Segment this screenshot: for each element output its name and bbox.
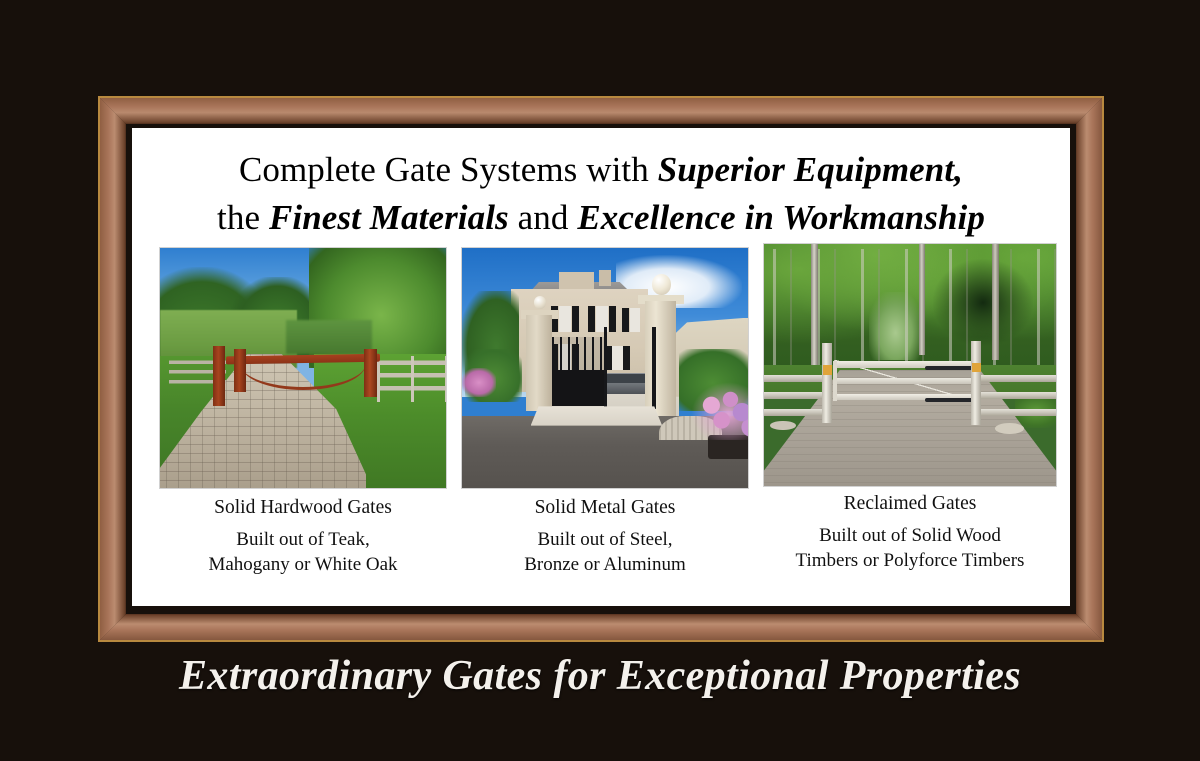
card-caption: Solid Hardwood Gates Built out of Teak, …: [160, 495, 446, 577]
gate-type-card-reclaimed[interactable]: Reclaimed Gates Built out of Solid Wood …: [764, 244, 1056, 573]
card-title: Solid Metal Gates: [535, 497, 676, 518]
frame-bevel-top: [98, 96, 1104, 126]
headline-line2-plain-a: the: [217, 198, 269, 237]
frame-bevel-left: [98, 96, 128, 642]
card-title: Reclaimed Gates: [844, 493, 977, 514]
headline-line-2: the Finest Materials and Excellence in W…: [132, 194, 1070, 242]
headline-line1-emphasis: Superior Equipment,: [658, 150, 963, 189]
card-caption: Solid Metal Gates Built out of Steel, Br…: [462, 495, 748, 577]
card-subtitle-line-2: Mahogany or White Oak: [160, 552, 446, 577]
frame-bevel-right: [1074, 96, 1104, 642]
page-title: Complete Gate Systems with Superior Equi…: [132, 146, 1070, 242]
card-subtitle-line-1: Built out of Teak,: [160, 527, 446, 552]
headline-line1-plain: Complete Gate Systems with: [239, 150, 658, 189]
reclaimed-gate-gravel-road-photo: [764, 244, 1056, 486]
headline-line2-plain-b: and: [509, 198, 578, 237]
card-subtitle-line-2: Timbers or Polyforce Timbers: [764, 548, 1056, 573]
gate-type-card-metal[interactable]: Solid Metal Gates Built out of Steel, Br…: [462, 248, 748, 577]
card-title: Solid Hardwood Gates: [214, 497, 392, 518]
metal-gate-estate-photo: [462, 248, 748, 488]
headline-line2-emphasis-b: Excellence in Workmanship: [577, 198, 985, 237]
card-subtitle-line-1: Built out of Steel,: [462, 527, 748, 552]
card-subtitle-line-2: Bronze or Aluminum: [462, 552, 748, 577]
hardwood-gate-cobblestone-driveway-photo: [160, 248, 446, 488]
card-subtitle-line-1: Built out of Solid Wood: [764, 523, 1056, 548]
frame-bevel-bottom: [98, 612, 1104, 642]
tagline: Extraordinary Gates for Exceptional Prop…: [0, 652, 1200, 700]
gate-type-card-hardwood[interactable]: Solid Hardwood Gates Built out of Teak, …: [160, 248, 446, 577]
headline-line2-emphasis-a: Finest Materials: [269, 198, 509, 237]
poster-matte: Complete Gate Systems with Superior Equi…: [132, 128, 1070, 606]
card-caption: Reclaimed Gates Built out of Solid Wood …: [764, 491, 1056, 573]
headline-line-1: Complete Gate Systems with Superior Equi…: [132, 146, 1070, 194]
